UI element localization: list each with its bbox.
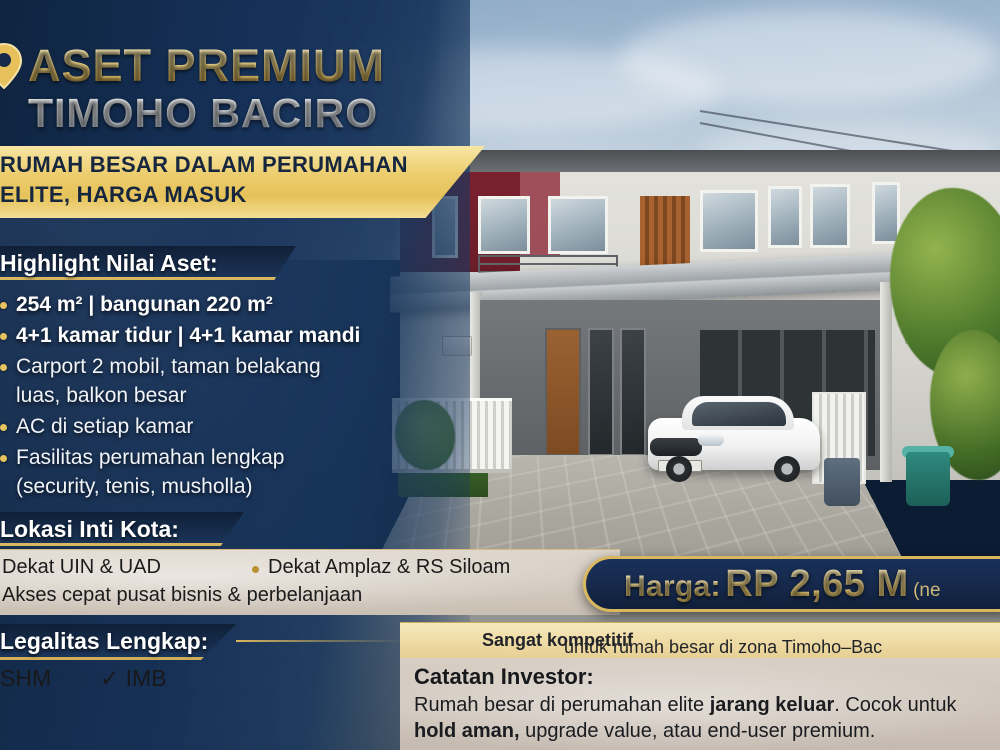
catatan-line1: Rumah besar di perumahan elite jarang ke…: [414, 694, 957, 717]
catatan-line2: hold aman, upgrade value, atau end-user …: [414, 720, 875, 743]
car-grille: [650, 438, 702, 456]
real-estate-poster: B 3101 XZU ASET PREMIUM TIMOHO BACIRO RU…: [0, 0, 1000, 750]
price-subtext-rest: untuk rumah besar di zona Timoho–Bac: [564, 637, 882, 658]
car-wheel: [666, 456, 692, 482]
window: [872, 182, 900, 244]
highlight-list: 254 m² | bangunan 220 m² 4+1 kamar tidur…: [0, 290, 394, 503]
price-value: RP 2,65 M: [725, 563, 908, 605]
price-banner: Harga: RP 2,65 M (ne: [583, 556, 1000, 612]
highlight-heading: Highlight Nilai Aset:: [0, 250, 218, 277]
highlight-item-2: Carport 2 mobil, taman belakang: [16, 355, 321, 378]
price-subtext: Sangat kompetitif untuk rumah besar di z…: [482, 630, 633, 651]
catatan-line1-b: jarang keluar: [710, 694, 835, 716]
glass-panel: [588, 328, 614, 456]
page-title-line1: ASET PREMIUM: [28, 40, 458, 92]
list-item: 4+1 kamar tidur | 4+1 kamar mandi: [0, 321, 394, 350]
wooden-slat-screen: [640, 196, 690, 272]
highlight-item-2-sub: luas, balkon besar: [16, 381, 394, 410]
price-label: Harga:: [624, 570, 721, 603]
catatan-line1-a: Rumah besar di perumahan elite: [414, 694, 710, 716]
location-pin-icon: [0, 40, 30, 92]
lokasi-heading: Lokasi Inti Kota:: [0, 516, 179, 543]
legalitas-heading: Legalitas Lengkap:: [0, 628, 208, 655]
white-suv: B 3101 XZU: [648, 390, 820, 480]
highlight-item-4-sub: (security, tenis, musholla): [16, 472, 394, 501]
subtitle-band: RUMAH BESAR DALAM PERUMAHAN ELITE, HARGA…: [0, 146, 485, 218]
highlight-item-4: Fasilitas perumahan lengkap: [16, 446, 285, 469]
car-windshield: [692, 402, 786, 426]
car-wheel: [774, 456, 800, 482]
car-headlight: [698, 434, 724, 446]
glass-panel: [620, 328, 646, 456]
front-door: [545, 328, 581, 456]
cloud: [620, 10, 1000, 106]
price-note: (ne: [913, 580, 940, 601]
window: [478, 196, 530, 254]
gold-divider: [236, 640, 406, 642]
lokasi-item-3: Akses cepat pusat bisnis & perbelanjaan: [2, 584, 362, 607]
lokasi-panel: Dekat UIN & UAD Dekat Amplaz & RS Siloam…: [0, 549, 620, 615]
lokasi-item-1: Dekat UIN & UAD: [2, 556, 161, 579]
price-content: Harga: RP 2,65 M (ne: [624, 563, 941, 606]
highlight-item-1: 4+1 kamar tidur | 4+1 kamar mandi: [16, 324, 360, 347]
list-item: Fasilitas perumahan lengkap (security, t…: [0, 443, 394, 501]
window: [768, 186, 802, 248]
lokasi-item-2: Dekat Amplaz & RS Siloam: [252, 556, 510, 579]
lokasi-heading-bar: Lokasi Inti Kota:: [0, 512, 244, 546]
subtitle-line2: ELITE, HARGA MASUK: [0, 182, 247, 208]
catatan-title: Catatan Investor:: [414, 664, 594, 690]
catatan-line2-b: upgrade value, atau end-user premium.: [520, 720, 876, 742]
legalitas-item-shm: SHM: [0, 665, 51, 692]
window: [548, 196, 608, 254]
legalitas-item-imb: ✓ IMB: [100, 665, 167, 692]
highlight-item-3: AC di setiap kamar: [16, 415, 193, 438]
catatan-line2-a: hold aman,: [414, 720, 520, 742]
highlight-heading-bar: Highlight Nilai Aset:: [0, 246, 296, 280]
roof-fascia: [398, 150, 1000, 172]
price-subtext-strip: Sangat kompetitif untuk rumah besar di z…: [400, 622, 1000, 658]
catatan-line1-c: . Cocok untuk: [834, 694, 956, 716]
trash-bin: [824, 458, 860, 506]
list-item: Carport 2 mobil, taman belakang luas, ba…: [0, 352, 394, 410]
subtitle-line1: RUMAH BESAR DALAM PERUMAHAN: [0, 152, 408, 178]
page-title-line2: TIMOHO BACIRO: [28, 88, 458, 138]
highlight-item-0: 254 m² | bangunan 220 m²: [16, 293, 273, 316]
list-item: AC di setiap kamar: [0, 412, 394, 441]
catatan-investor-panel: Catatan Investor: Rumah besar di perumah…: [400, 658, 1000, 750]
window: [810, 184, 850, 248]
carport-post: [880, 282, 892, 482]
trash-bin: [906, 452, 950, 506]
legalitas-heading-bar: Legalitas Lengkap:: [0, 624, 236, 660]
window: [700, 190, 758, 252]
list-item: 254 m² | bangunan 220 m²: [0, 290, 394, 319]
